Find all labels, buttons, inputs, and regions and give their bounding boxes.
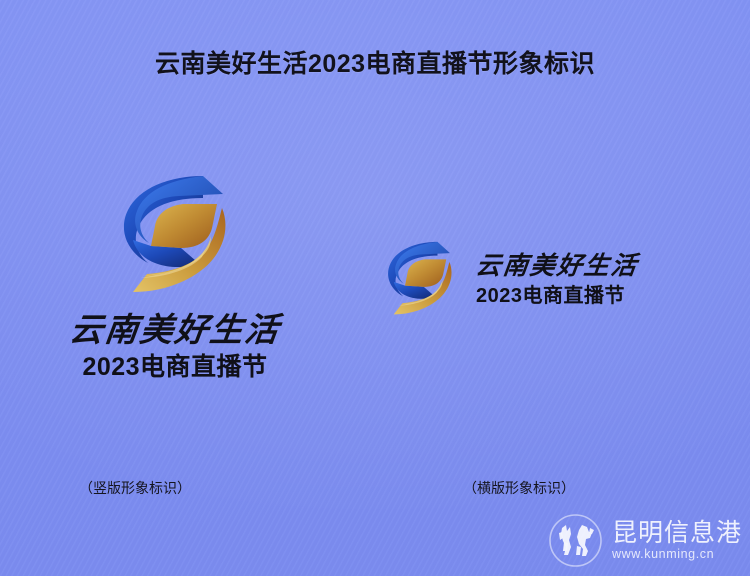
wordmark-vertical: 云南美好生活 2023电商直播节 <box>70 313 280 380</box>
caption-horizontal-logo: （横版形象标识） <box>463 478 575 498</box>
caption-vertical-logo: （竖版形象标识） <box>79 478 191 498</box>
wordmark-brush-text: 云南美好生活 <box>474 253 639 278</box>
logo-lockup-vertical: 云南美好生活 2023电商直播节 <box>56 168 294 380</box>
s-swoosh-mark-icon <box>380 236 460 322</box>
logo-lockup-horizontal: 云南美好生活 2023电商直播节 <box>380 236 660 322</box>
kunming-horse-emblem-icon <box>548 513 603 568</box>
wordmark-brush-text: 云南美好生活 <box>68 313 282 346</box>
site-watermark: 昆明信息港 www.kunming.cn <box>548 513 742 568</box>
wordmark-horizontal: 云南美好生活 2023电商直播节 <box>476 253 638 306</box>
screenshot-canvas: 云南美好生活2023电商直播节形象标识 <box>0 0 750 576</box>
s-swoosh-mark-icon <box>111 168 239 303</box>
watermark-site-name: 昆明信息港 <box>612 520 742 547</box>
wordmark-bold-text: 2023电商直播节 <box>82 355 267 380</box>
page-title: 云南美好生活2023电商直播节形象标识 <box>0 44 750 80</box>
watermark-site-url: www.kunming.cn <box>612 548 714 562</box>
watermark-text-block: 昆明信息港 www.kunming.cn <box>612 520 742 562</box>
wordmark-bold-text: 2023电商直播节 <box>476 286 625 306</box>
